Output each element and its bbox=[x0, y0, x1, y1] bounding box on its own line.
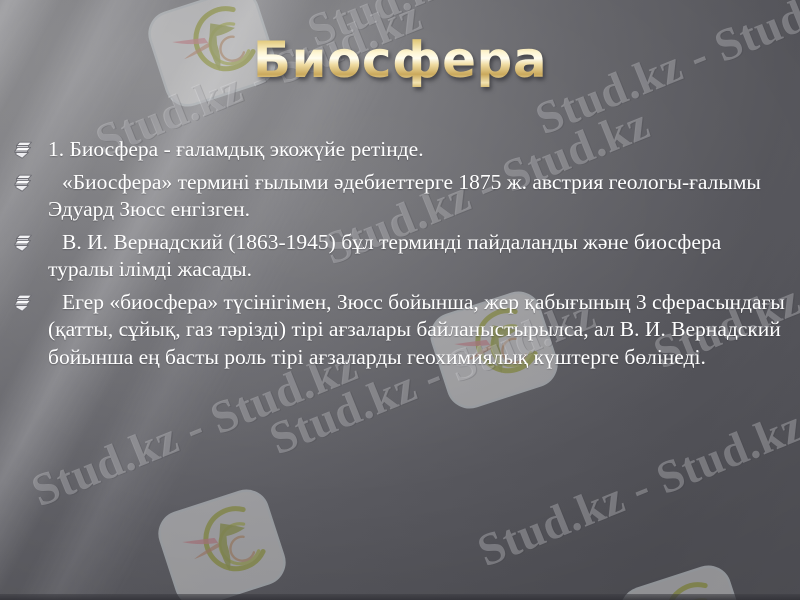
slide-bottom-bar bbox=[0, 594, 800, 600]
slide-bullet-list: 1. Биосфера - ғаламдық экожүйе ретінде. … bbox=[14, 136, 786, 377]
bullet-item-2: «Биосфера» термині ғылыми әдебиеттерге 1… bbox=[14, 169, 786, 223]
bullet-text: «Биосфера» термині ғылыми әдебиеттерге 1… bbox=[48, 169, 786, 223]
stacked-books-bullet-icon bbox=[14, 229, 48, 252]
stacked-books-bullet-icon bbox=[14, 289, 48, 312]
presentation-slide: Stud.kz - Stud.kzStud.kz - Stud.kzStud.k… bbox=[0, 0, 800, 600]
bullet-text: В. И. Вернадский (1863-1945) бұл терминд… bbox=[48, 229, 786, 283]
stacked-books-bullet-icon bbox=[14, 169, 48, 192]
slide-title: Биосфера bbox=[253, 34, 547, 87]
stacked-books-bullet-icon bbox=[14, 136, 48, 159]
bullet-text: 1. Биосфера - ғаламдық экожүйе ретінде. bbox=[48, 136, 786, 163]
bullet-text: Егер «биосфера» түсінігімен, Зюсс бойынш… bbox=[48, 289, 786, 370]
slide-title-area: Биосфера bbox=[0, 34, 800, 87]
bullet-item-3: В. И. Вернадский (1863-1945) бұл терминд… bbox=[14, 229, 786, 283]
bullet-item-4: Егер «биосфера» түсінігімен, Зюсс бойынш… bbox=[14, 289, 786, 370]
bullet-item-1: 1. Биосфера - ғаламдық экожүйе ретінде. bbox=[14, 136, 786, 163]
